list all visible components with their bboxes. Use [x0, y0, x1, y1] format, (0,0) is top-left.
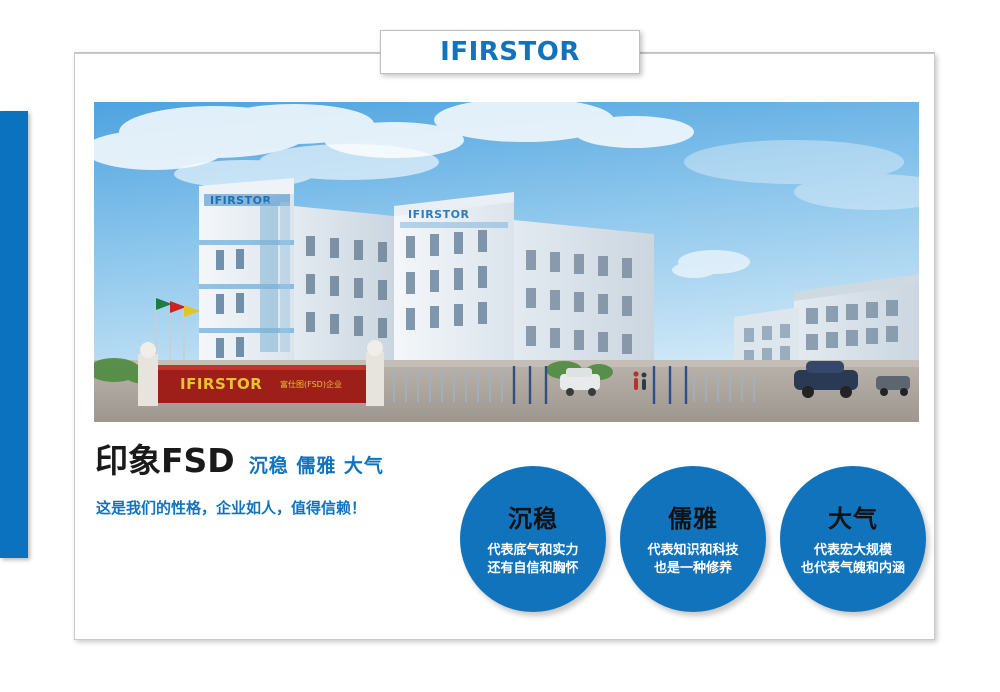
svg-text:IFIRSTOR: IFIRSTOR — [408, 208, 469, 221]
value-circle-title: 大气 — [828, 507, 878, 532]
left-accent-bar — [0, 111, 28, 558]
main-content-card: IFIRSTOR — [74, 53, 935, 640]
brand-logo-text: IFIRSTOR — [440, 37, 580, 67]
value-circle-description: 代表知识和科技 也是一种修养 — [647, 542, 738, 577]
headline-row: 印象FSD 沉稳 儒雅 大气 — [95, 444, 384, 477]
page-title: 印象FSD — [95, 444, 235, 477]
value-circle-desc-line2: 还有自信和胸怀 — [487, 560, 578, 578]
hero-photo: IFIRSTOR — [94, 102, 919, 422]
page-subtitle: 沉稳 儒雅 大气 — [249, 457, 384, 476]
hero-photo-illustration: IFIRSTOR — [94, 102, 919, 422]
value-circle-description: 代表宏大规模 也代表气魄和内涵 — [801, 542, 905, 577]
value-circle-desc-line1: 代表知识和科技 — [647, 543, 738, 558]
brand-logo-plate: IFIRSTOR — [380, 30, 640, 74]
value-circle-chenwen[interactable]: 沉稳 代表底气和实力 还有自信和胸怀 — [460, 466, 606, 612]
value-circle-ruya[interactable]: 儒雅 代表知识和科技 也是一种修养 — [620, 466, 766, 612]
value-circle-daqi[interactable]: 大气 代表宏大规模 也代表气魄和内涵 — [780, 466, 926, 612]
value-circle-desc-line1: 代表底气和实力 — [487, 543, 578, 558]
svg-text:富仕图(FSD)企业: 富仕图(FSD)企业 — [280, 379, 342, 389]
value-circle-title: 儒雅 — [668, 507, 718, 532]
value-circle-description: 代表底气和实力 还有自信和胸怀 — [487, 542, 578, 577]
value-circle-desc-line2: 也是一种修养 — [647, 560, 738, 578]
value-circle-desc-line2: 也代表气魄和内涵 — [801, 560, 905, 578]
svg-text:IFIRSTOR: IFIRSTOR — [180, 375, 262, 393]
tagline-text: 这是我们的性格，企业如人，值得信赖！ — [96, 497, 366, 518]
value-circle-title: 沉稳 — [508, 507, 558, 532]
value-circles-group: 沉稳 代表底气和实力 还有自信和胸怀 儒雅 代表知识和科技 也是一种修养 大气 … — [460, 461, 930, 626]
value-circle-desc-line1: 代表宏大规模 — [814, 543, 892, 558]
